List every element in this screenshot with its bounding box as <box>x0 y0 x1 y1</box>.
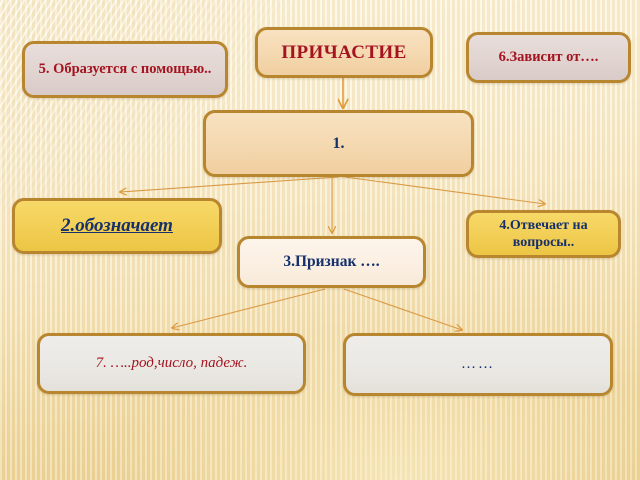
node-5-label: 5. Образуется с помощью.. <box>35 61 215 79</box>
node-6-label: 6.Зависит от…. <box>479 49 618 67</box>
node-2-label: 2.обозначает <box>25 214 209 237</box>
node-prichastie[interactable]: ПРИЧАСТИЕ <box>255 27 433 78</box>
arrow-3-to-7 <box>172 289 325 328</box>
node-2-oboznachaet[interactable]: 2.обозначает <box>12 198 222 254</box>
arrow-3-to-dots <box>344 289 462 330</box>
node-6-zavisit-ot[interactable]: 6.Зависит от…. <box>466 32 631 83</box>
node-4-label: 4.Отвечает на вопросы.. <box>479 217 608 251</box>
node-7-label: 7. …..род,число, падеж. <box>50 354 293 372</box>
slide-canvas: ПРИЧАСТИЕ 5. Образуется с помощью.. 6.За… <box>0 0 640 480</box>
node-1-blank[interactable]: 1. <box>203 110 474 177</box>
node-4-otvechaet-na-voprosy[interactable]: 4.Отвечает на вопросы.. <box>466 210 621 258</box>
arrow-1-to-2 <box>120 177 338 192</box>
node-5-obrazuetsya[interactable]: 5. Образуется с помощью.. <box>22 41 228 98</box>
node-8-dots[interactable]: …… <box>343 333 613 396</box>
node-1-label: 1. <box>216 134 461 154</box>
node-8-label: …… <box>356 355 600 373</box>
node-prichastie-label: ПРИЧАСТИЕ <box>268 41 420 64</box>
node-3-priznak[interactable]: 3.Признак …. <box>237 236 426 288</box>
node-7-rod-chislo-padezh[interactable]: 7. …..род,число, падеж. <box>37 333 306 394</box>
arrow-1-to-4 <box>345 177 545 204</box>
node-3-label: 3.Признак …. <box>250 253 413 272</box>
